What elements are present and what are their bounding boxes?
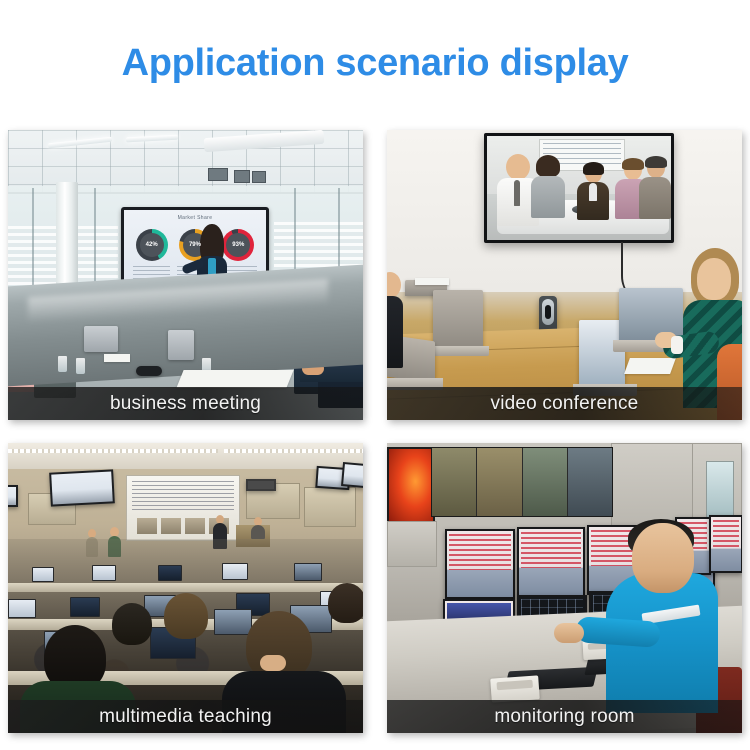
water-glass-2: [76, 358, 85, 374]
laptop-r2-2: [70, 597, 100, 617]
application-scenario-page: Application scenario display: [0, 0, 750, 750]
projected-text: [132, 481, 234, 513]
scenario-grid: Market Share 42% 79%: [8, 130, 742, 735]
laptop-left: [84, 326, 118, 352]
caption-bar-multimedia-teaching: multimedia teaching: [8, 700, 363, 733]
projector-body: [248, 481, 274, 489]
mid-student-head-3: [328, 583, 363, 623]
caption-bar-business-meeting: business meeting: [8, 387, 363, 420]
video-wall-cell-1: [432, 448, 476, 516]
remote-3-shirt: [589, 183, 597, 201]
seated-speaker: [251, 517, 265, 539]
caption-multimedia-teaching: multimedia teaching: [99, 707, 272, 726]
laptop-r2-1-screen: [9, 600, 35, 617]
left-edge-head: [387, 272, 401, 298]
ceiling-vent-3: [252, 171, 266, 183]
tablet-dark: [136, 366, 162, 376]
operator-hand: [554, 623, 584, 643]
scenario-card-business-meeting[interactable]: Market Share 42% 79%: [8, 130, 363, 420]
ceiling-vent-2: [234, 170, 250, 183]
video-wall: [431, 447, 613, 517]
lecture-hall-ceiling: [8, 443, 363, 469]
mid-student-head-1: [164, 593, 208, 639]
control-room-operator: [598, 523, 718, 713]
laptop-r2-2-screen: [71, 598, 99, 616]
remote-1-head: [506, 154, 530, 180]
monitor-top-2-screen: [519, 529, 583, 595]
remote-1-tie: [514, 180, 520, 206]
overhead-monitor-left-screen: [51, 471, 112, 504]
projector-mount: [246, 479, 276, 491]
scenario-card-video-conference[interactable]: video conference: [387, 130, 742, 420]
video-wall-cell-3: [523, 448, 567, 516]
laptop-r3-5: [294, 563, 322, 581]
overhead-monitor-far-left: [8, 485, 18, 507]
projected-thumb-3: [185, 518, 205, 534]
remote-2-top: [531, 176, 565, 218]
scenario-card-multimedia-teaching[interactable]: multimedia teaching: [8, 443, 363, 733]
desk-phone-front: [490, 675, 540, 702]
laptop-r3-1: [32, 567, 54, 582]
remote-5-hair: [645, 156, 667, 168]
left-edge-body: [387, 296, 403, 368]
remote-participant-2: [531, 158, 565, 218]
donut-value-2: 79%: [189, 242, 201, 248]
page-title: Application scenario display: [0, 40, 750, 86]
mid-student-head-2: [112, 603, 152, 645]
notepad: [104, 354, 130, 362]
laptop-r3-3: [158, 565, 182, 581]
ceiling-strip-light: [8, 449, 218, 453]
operator-head: [632, 523, 694, 593]
business-meeting-photo: Market Share 42% 79%: [8, 130, 363, 420]
water-glass-1: [58, 356, 67, 372]
scenario-card-monitoring-room[interactable]: monitoring room: [387, 443, 742, 733]
ceiling-vent-1: [208, 168, 228, 181]
remote-2-hair: [536, 155, 560, 177]
video-conference-photo: video conference: [387, 130, 742, 420]
caption-business-meeting: business meeting: [110, 394, 261, 413]
desk-row-3: [8, 583, 363, 592]
wall-mounted-display: [484, 133, 674, 243]
monitor-top-2: [517, 527, 585, 597]
laptop-r3-4-screen: [223, 564, 247, 579]
remote-meeting-feed: [487, 136, 671, 240]
foreground-student-hand: [260, 655, 286, 671]
papers-on-table: [624, 358, 676, 374]
donut-value-3: 93%: [232, 242, 244, 248]
equipment-cabinet: [387, 521, 437, 567]
camera-lens: [542, 299, 554, 325]
laptop-r1-3: [214, 609, 252, 635]
caption-bar-monitoring-room: monitoring room: [387, 700, 742, 733]
remote-participant-3: [577, 164, 609, 220]
donut-value-1: 42%: [146, 242, 158, 248]
overhead-monitor-far-right: [341, 462, 363, 488]
seated-speaker-body: [251, 525, 265, 539]
laptop-r3-2-screen: [93, 566, 115, 580]
local-participant-left-edge: [387, 272, 405, 368]
notebook: [415, 278, 449, 285]
caption-monitoring-room: monitoring room: [494, 707, 634, 726]
table-reflection: [28, 279, 328, 323]
monitor-top-1-screen: [447, 531, 513, 597]
slide-title: Market Share: [124, 215, 266, 221]
multimedia-teaching-photo: multimedia teaching: [8, 443, 363, 733]
overhead-monitor-left: [49, 469, 115, 506]
laptop-r3-3-screen: [159, 566, 181, 580]
monitor-top-1: [445, 529, 515, 599]
video-wall-cell-2: [477, 448, 521, 516]
donut-chart-1: 42%: [136, 229, 168, 261]
overhead-monitor-far-left-screen: [8, 487, 16, 505]
caption-bar-video-conference: video conference: [387, 387, 742, 420]
laptop-r3-1-screen: [33, 568, 53, 581]
monitoring-room-photo: monitoring room: [387, 443, 742, 733]
woman-cuff: [671, 336, 683, 354]
laptop-r1-3-screen: [215, 610, 251, 634]
document-on-table: [176, 370, 293, 388]
laptop-r3-4: [222, 563, 248, 580]
remote-participant-5: [639, 158, 671, 218]
ceiling-strip-light-2: [224, 449, 363, 453]
wall-panel-right: [304, 487, 356, 527]
laptop-r3-5-screen: [295, 564, 321, 580]
laptop-center: [168, 330, 194, 360]
video-wall-cell-4: [568, 448, 612, 516]
caption-video-conference: video conference: [491, 394, 639, 413]
laptop-r2-1: [8, 599, 36, 618]
laptop-r3-2: [92, 565, 116, 581]
overhead-monitor-far-right-screen: [343, 464, 363, 486]
remote-3-hair: [583, 162, 604, 175]
projected-thumb-2: [161, 518, 181, 534]
alert-display: [387, 447, 435, 523]
woman-head: [697, 258, 731, 300]
projected-thumb-1: [137, 518, 157, 534]
remote-5-suit: [639, 177, 671, 219]
